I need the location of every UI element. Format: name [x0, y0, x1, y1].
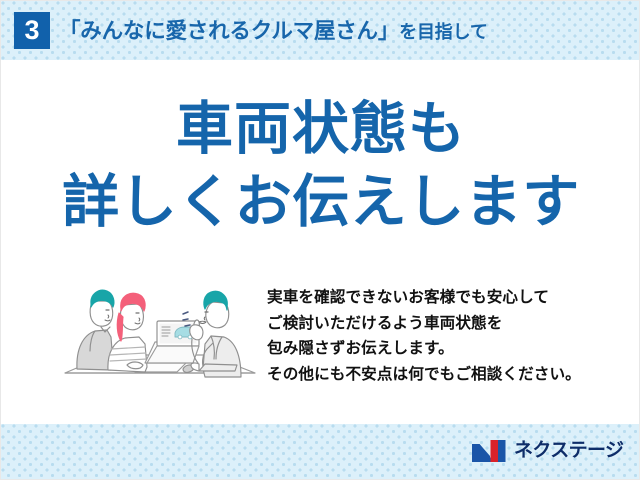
headline-line-1: 車両状態も — [1, 93, 640, 165]
consultation-illustration-svg — [59, 277, 259, 391]
body-copy: 実車を確認できないお客様でも安心して ご検討いただけるよう車両状態を 包み隠さず… — [267, 285, 617, 387]
headline-line-2: 詳しくお伝えします — [1, 165, 640, 239]
promo-banner: 3 「みんなに愛されるクルマ屋さん」を目指して 車両状態も 詳しくお伝えします — [0, 0, 640, 480]
nextage-n-logo-icon — [471, 439, 509, 463]
section-number-badge: 3 — [14, 12, 50, 49]
body-copy-line-3: 包み隠さずお伝えします。 — [267, 336, 617, 362]
header-title-suffix: を目指して — [399, 22, 487, 42]
body-copy-line-2: ご検討いただけるよう車両状態を — [267, 311, 617, 337]
brand-logo: ネクステージ — [471, 438, 623, 464]
header-title-quoted: 「みんなに愛されるクルマ屋さん」 — [59, 19, 399, 43]
consultation-illustration — [59, 277, 259, 391]
body-copy-line-1: 実車を確認できないお客様でも安心して — [267, 285, 617, 311]
brand-wordmark: ネクステージ — [514, 439, 623, 463]
body-copy-line-4: その他にも不安点は何でもご相談ください。 — [267, 362, 617, 388]
headline: 車両状態も 詳しくお伝えします — [1, 93, 640, 239]
header-title: 「みんなに愛されるクルマ屋さん」を目指して — [59, 17, 488, 45]
